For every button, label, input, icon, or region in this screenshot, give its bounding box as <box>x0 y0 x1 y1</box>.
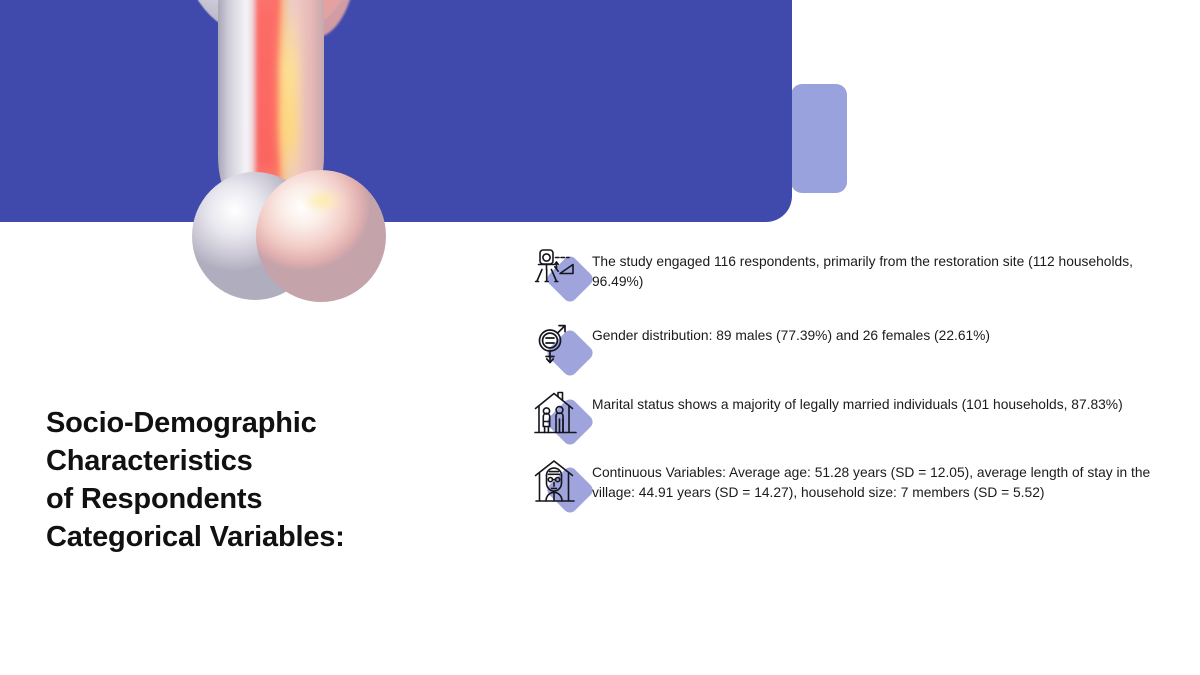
list-item-text: Gender distribution: 89 males (77.39%) a… <box>592 321 1170 346</box>
periwinkle-accent-card <box>791 84 847 193</box>
headline-line-2: Characteristics <box>46 445 253 477</box>
page-title: Socio-Demographic Characteristics of Res… <box>46 404 476 556</box>
bullet-icon-wrapper <box>530 247 592 299</box>
list-item-text: Continuous Variables: Average age: 51.28… <box>592 458 1170 502</box>
slide-canvas: Socio-Demographic Characteristics of Res… <box>0 0 1200 675</box>
list-item: Marital status shows a majority of legal… <box>530 390 1170 442</box>
bullet-icon-wrapper <box>530 390 592 442</box>
family-house-couple-icon <box>532 390 578 438</box>
list-item: The study engaged 116 respondents, prima… <box>530 247 1170 299</box>
gender-equality-icon <box>532 321 578 369</box>
headline-line-4: Categorical Variables: <box>46 521 345 553</box>
bone-yellow-highlight <box>279 0 299 190</box>
bullet-list: The study engaged 116 respondents, prima… <box>530 247 1170 510</box>
list-item: Gender distribution: 89 males (77.39%) a… <box>530 321 1170 373</box>
list-item: Continuous Variables: Average age: 51.28… <box>530 458 1170 510</box>
list-item-text: The study engaged 116 respondents, prima… <box>592 247 1170 291</box>
bone-specular-highlight <box>301 188 345 214</box>
blue-background-panel <box>0 0 792 222</box>
surveying-theodolite-icon <box>532 247 578 295</box>
3d-bone-illustration <box>183 0 358 305</box>
house-resident-person-icon <box>532 458 578 506</box>
list-item-text: Marital status shows a majority of legal… <box>592 390 1170 415</box>
headline-line-3: of Respondents <box>46 483 262 515</box>
headline-line-1: Socio-Demographic <box>46 407 317 439</box>
bullet-icon-wrapper <box>530 321 592 373</box>
bullet-icon-wrapper <box>530 458 592 510</box>
